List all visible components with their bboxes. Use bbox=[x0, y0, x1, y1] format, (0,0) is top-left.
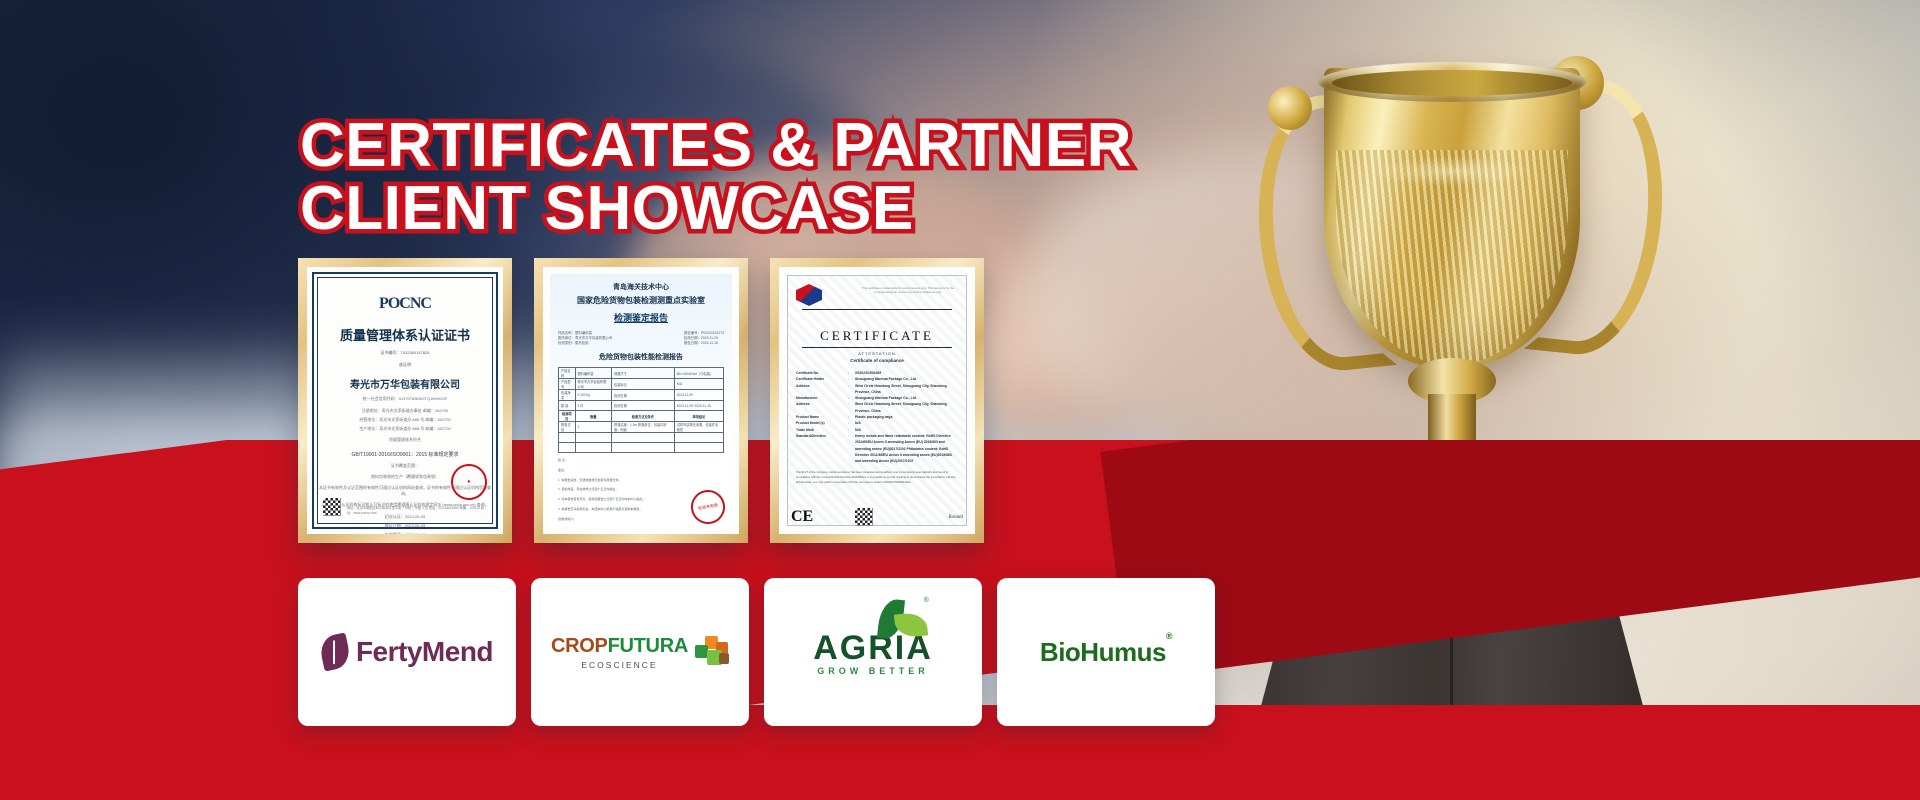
table-cell: 塑料编织袋 bbox=[575, 368, 612, 379]
partner-name-part-2: FUTURA bbox=[608, 635, 688, 657]
table-cell: 寿光市万华包装有限公司 bbox=[575, 379, 612, 390]
table-cell bbox=[559, 443, 576, 453]
table-cell: 3 bbox=[575, 422, 612, 433]
table-row: 产品型号 寿光市万华包装有限公司 包装标记 N/A bbox=[559, 379, 724, 390]
ce-qr-code-icon bbox=[855, 508, 873, 526]
report-meta-item: 检测类别：委托检验 bbox=[558, 340, 612, 345]
table-header-cell: 检测项目 bbox=[559, 411, 576, 422]
table-cell: 试样内容物无泄漏、包装件无破损 bbox=[674, 422, 723, 433]
table-header-cell: 数量 bbox=[575, 411, 612, 422]
certificate-dates: 初次认证：2023-06-09 换证日期：2023-06-09 有效期至：202… bbox=[319, 514, 491, 534]
two-leaves-icon: ® bbox=[871, 599, 927, 641]
table-cell bbox=[674, 433, 723, 443]
partner-card-cropfutura[interactable]: CROPFUTURA ECOSCIENCE bbox=[531, 578, 749, 726]
certificate-content: The certificate is responsible for testi… bbox=[787, 275, 967, 526]
registered-mark: ® bbox=[1166, 631, 1172, 641]
page-title-line-2: CLIENT SHOWCASE bbox=[300, 177, 1200, 241]
pocnc-logo-icon: POCNC bbox=[319, 295, 491, 313]
report-meta-item: 报告日期：2023-11-15 bbox=[684, 340, 724, 345]
partner-tagline: ECOSCIENCE bbox=[581, 660, 657, 670]
cropfutura-wordmark: CROPFUTURA ECOSCIENCE bbox=[551, 635, 688, 670]
table-header-cell: 检测方法及条件 bbox=[612, 411, 675, 422]
certificate-scope-label: 质量管理体系符合 bbox=[319, 437, 491, 443]
ce-field-value: West Circle Huantong Street, Shouguang C… bbox=[855, 383, 958, 396]
leaf-icon bbox=[318, 632, 352, 671]
table-cell: 0.100 kg bbox=[575, 390, 612, 401]
certificate-awarded-label: 兹证明 bbox=[319, 362, 491, 368]
table-cell: 数 量 bbox=[559, 401, 576, 411]
ce-subtitle-2: Certificate of compliance bbox=[796, 358, 958, 363]
certificate-standard: GB/T19001-2016/ISO9001：2015 标准规定要求 bbox=[319, 451, 491, 458]
certificate-number: 证书编号：7032360147826 bbox=[319, 350, 491, 356]
partner-card-biohumus[interactable]: BioHumus® bbox=[997, 578, 1215, 726]
table-cell: 2023-11-09 bbox=[674, 390, 723, 401]
table-cell: 80×145×60cm（中包装） bbox=[674, 368, 723, 379]
certificate-page: The certificate is responsible for testi… bbox=[779, 267, 975, 534]
ce-body-logo-icon bbox=[796, 284, 822, 306]
ce-field-label: Standard/Directive bbox=[796, 433, 848, 464]
certificate-address-row: 生产地址：寿光市文家街道办 888 号 邮编：262700 bbox=[319, 426, 491, 432]
table-cell bbox=[575, 433, 612, 443]
partner-tagline: GROW BETTER bbox=[817, 666, 929, 676]
certificate-date: 换证日期：2023-06-09 bbox=[319, 523, 491, 529]
ce-mark-icon: CE bbox=[791, 508, 813, 526]
report-org-line-1: 青岛海关技术中心 bbox=[558, 282, 724, 292]
divider bbox=[802, 347, 952, 348]
registered-mark: ® bbox=[924, 597, 929, 604]
table-row bbox=[559, 433, 724, 443]
ce-field-label: Address bbox=[796, 383, 848, 396]
page-title: CERTIFICATES & PARTNER CLIENT SHOWCASE bbox=[300, 114, 1200, 242]
certificate-card-quality-management-system[interactable]: POCNC 质量管理体系认证证书 证书编号：7032360147826 兹证明 … bbox=[298, 258, 512, 543]
report-meta-left: 样品名称：塑料编织袋 委托单位：寿光市万华包装有限公司 检测类别：委托检验 bbox=[558, 330, 612, 345]
table-cell: 规格尺寸 bbox=[612, 368, 675, 379]
certificate-address-rows: 注册地址：寿光市文家街道办事处 邮编：262700 经营地址：寿光市文家街道办 … bbox=[319, 408, 491, 432]
certificate-card-ce-compliance[interactable]: The certificate is responsible for testi… bbox=[770, 258, 984, 543]
certificate-title: 质量管理体系认证证书 bbox=[319, 325, 491, 344]
report-remark: 1. 本报告涂改、无骑缝章或无检验专用章无效。 bbox=[558, 478, 724, 483]
certificate-page: POCNC 质量管理体系认证证书 证书编号：7032360147826 兹证明 … bbox=[307, 267, 503, 534]
ce-field-label: Address bbox=[796, 401, 848, 414]
table-cell: 跌落高度：1.2m 跌落部位：包装件底面、侧面 bbox=[612, 422, 675, 433]
ce-field: Standard/Directive:Heavy metals and flam… bbox=[796, 433, 958, 464]
table-cell: 3 件 bbox=[575, 401, 612, 411]
report-meta: 样品名称：塑料编织袋 委托单位：寿光市万华包装有限公司 检测类别：委托检验 报告… bbox=[558, 330, 724, 345]
certificate-page: 青岛海关技术中心 国家危险货物包装检测测重点实验室 检测鉴定报告 样品名称：塑料… bbox=[543, 267, 739, 534]
certificate-content: 青岛海关技术中心 国家危险货物包装检测测重点实验室 检测鉴定报告 样品名称：塑料… bbox=[550, 274, 732, 527]
ce-top-note: The certificate is responsible for testi… bbox=[860, 286, 956, 295]
table-cell: 包装净重 bbox=[559, 390, 576, 401]
ce-subtitle: ATTESTATION bbox=[796, 351, 958, 356]
table-cell: 检测日期 bbox=[612, 390, 675, 401]
table-header-cell: 单项结论 bbox=[674, 411, 723, 422]
report-remark-label: 备注： bbox=[558, 468, 724, 473]
partner-logo-row: FertyMend CROPFUTURA ECOSCIENCE bbox=[298, 578, 1215, 726]
certificate-company: 寿光市万华包装有限公司 bbox=[319, 376, 491, 391]
fertymend-logo: FertyMend bbox=[321, 635, 493, 669]
ce-field-value: West Circle Huantong Street, Shouguang C… bbox=[855, 401, 958, 414]
table-row: 包装净重 0.100 kg 检测日期 2023-11-09 bbox=[559, 390, 724, 401]
table-row: 产品名称 塑料编织袋 规格尺寸 80×145×60cm（中包装） bbox=[559, 368, 724, 379]
partner-name: FertyMend bbox=[356, 636, 493, 668]
partner-name-part-1: CROP bbox=[551, 635, 608, 657]
table-row bbox=[559, 443, 724, 453]
red-band-shadow bbox=[1100, 440, 1920, 680]
table-cell: N/A bbox=[674, 379, 723, 390]
table-cell: 跌落试验 bbox=[559, 422, 576, 433]
table-row: 数 量 3 件 检测日期 2023-11-09~2023-11-15 bbox=[559, 401, 724, 411]
ce-field: Address:West Circle Huantong Street, Sho… bbox=[796, 383, 958, 396]
ce-field-list: Certificate No.:XS2023/1502489 Certifica… bbox=[796, 370, 958, 464]
certificate-qr-code-icon bbox=[323, 498, 341, 516]
table-header-row: 检测项目 数量 检测方法及条件 单项结论 bbox=[559, 411, 724, 422]
table-cell bbox=[575, 443, 612, 453]
ce-certificate-title: CERTIFICATE bbox=[796, 328, 958, 344]
report-org-line-2: 国家危险货物包装检测测重点实验室 bbox=[558, 295, 724, 306]
report-title: 检测鉴定报告 bbox=[558, 311, 724, 324]
page-title-line-1: CERTIFICATES & PARTNER bbox=[300, 114, 1200, 178]
cropfutura-logo: CROPFUTURA ECOSCIENCE bbox=[551, 635, 729, 670]
banner-stage: CERTIFICATES & PARTNER CLIENT SHOWCASE P… bbox=[0, 0, 1920, 800]
trophy-rim-inner bbox=[1332, 70, 1572, 96]
partner-name: BioHumus bbox=[1040, 637, 1166, 667]
certificate-address-row: 注册地址：寿光市文家街道办事处 邮编：262700 bbox=[319, 408, 491, 414]
color-squares-icon bbox=[695, 636, 729, 668]
ce-field-value: Heavy metals and flame retardants conten… bbox=[855, 433, 958, 464]
table-row: 跌落试验 3 跌落高度：1.2m 跌落部位：包装件底面、侧面 试样内容物无泄漏、… bbox=[559, 422, 724, 433]
certificate-date: 有效期至：2026-06-08 bbox=[319, 532, 491, 534]
table-cell bbox=[612, 443, 675, 453]
table-cell: 产品型号 bbox=[559, 379, 576, 390]
trophy-scroll-left bbox=[1268, 86, 1312, 130]
biohumus-logo: BioHumus® bbox=[1040, 637, 1172, 668]
table-cell bbox=[674, 443, 723, 453]
divider bbox=[802, 309, 952, 310]
table-cell: 产品名称 bbox=[559, 368, 576, 379]
report-conclusion: 结 论： bbox=[558, 458, 724, 463]
certificate-gallery: POCNC 质量管理体系认证证书 证书编号：7032360147826 兹证明 … bbox=[298, 258, 984, 543]
partner-card-fertymend[interactable]: FertyMend bbox=[298, 578, 516, 726]
partner-card-agria[interactable]: ® AGRIA GROW BETTER bbox=[764, 578, 982, 726]
table-cell: 包装标记 bbox=[612, 379, 675, 390]
certificate-footer: 地址：北京市朝阳区和平街和平里中街 7 号院 7 号楼 3 层 电话：010-8… bbox=[347, 506, 489, 516]
certificate-address-row: 经营地址：寿光市文家街道办 888 号 邮编：262700 bbox=[319, 417, 491, 423]
agria-logo: ® AGRIA GROW BETTER bbox=[813, 629, 933, 676]
certificate-card-customs-inspection-report[interactable]: 青岛海关技术中心 国家危险货物包装检测测重点实验室 检测鉴定报告 样品名称：塑料… bbox=[534, 258, 748, 543]
table-cell bbox=[559, 433, 576, 443]
table-cell: 检测日期 bbox=[612, 401, 675, 411]
table-cell: 2023-11-09~2023-11-15 bbox=[674, 401, 723, 411]
ce-signature: Ronald bbox=[949, 515, 963, 520]
ce-paragraph: The EU/T of the company mentioned above … bbox=[796, 470, 958, 484]
ce-field: Address:West Circle Huantong Street, Sho… bbox=[796, 401, 958, 414]
report-meta-right: 报告编号：PK0020231173 检测日期：2023-11-09 报告日期：2… bbox=[684, 330, 724, 345]
report-section-title: 危险货物包装性能检测报告 bbox=[558, 352, 724, 362]
certificate-registration: 统一社会信用代码：91370783MA3TQJ8H9G0F bbox=[319, 396, 491, 402]
report-spec-table: 产品名称 塑料编织袋 规格尺寸 80×145×60cm（中包装） 产品型号 寿光… bbox=[558, 367, 724, 453]
table-cell bbox=[612, 433, 675, 443]
partner-name: CROPFUTURA bbox=[551, 635, 688, 658]
